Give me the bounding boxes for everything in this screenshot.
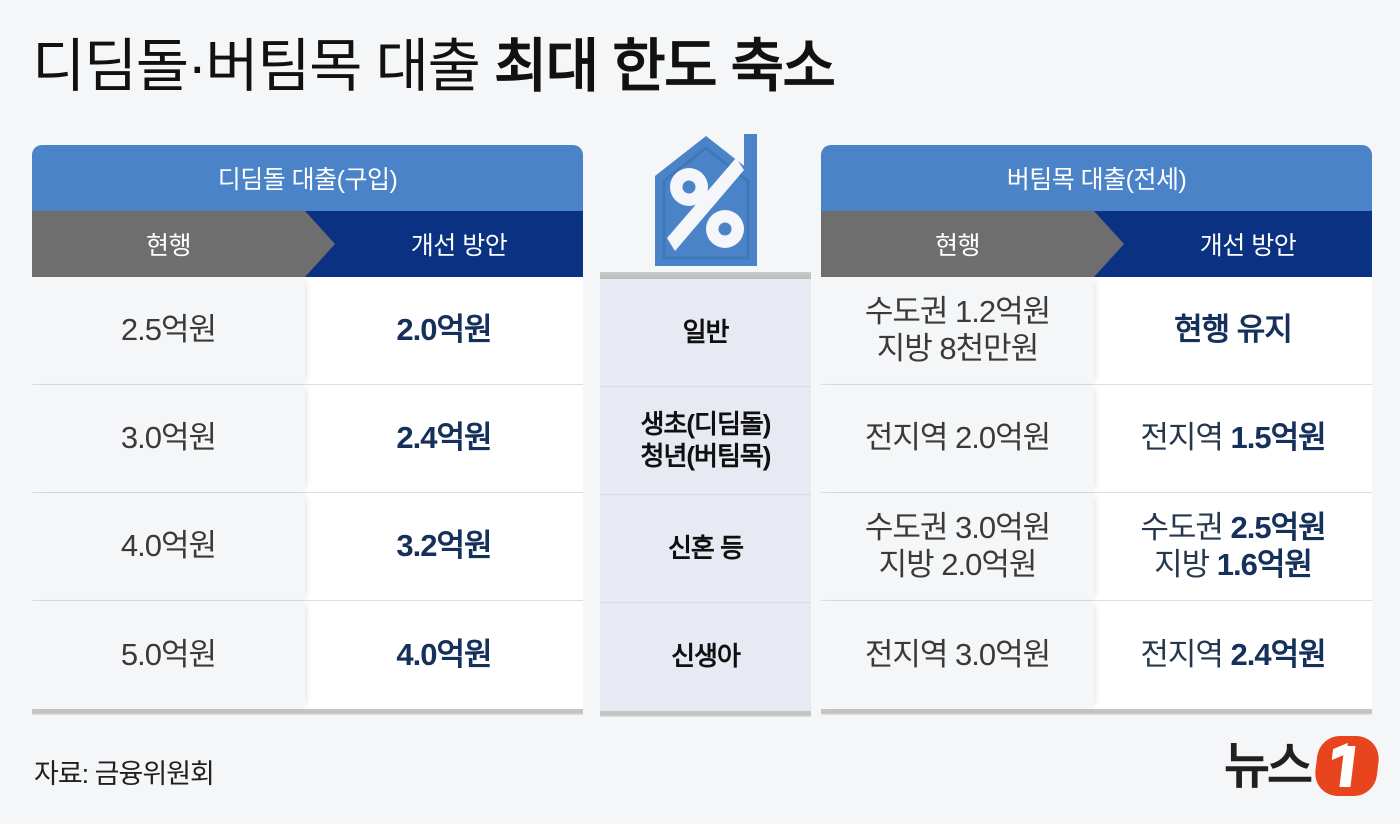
right-cell-plan: 현행 유지 [1094, 277, 1372, 384]
value-line: 수도권 1.2억원 [865, 294, 1050, 331]
value-line: 전지역 1.5억원 [1140, 420, 1325, 457]
left-cell-plan: 2.4억원 [305, 385, 583, 492]
didimdol-loan-table: 디딤돌 대출(구입) 현행 개선 방안 2.5억원 2.0억원 3.0억원 2.… [32, 145, 583, 715]
left-cell-current: 2.5억원 [32, 277, 305, 384]
left-col-header-plan: 개선 방안 [305, 211, 583, 277]
value-line: 5.0억원 [121, 637, 216, 674]
right-cell-plan: 전지역 1.5억원 [1094, 385, 1372, 492]
value-line: 현행 유지 [1174, 312, 1292, 349]
left-table-base-bar [32, 709, 583, 715]
page-title: 디딤돌·버팀목 대출 최대 한도 축소 [32, 24, 1372, 110]
value-line: 수도권 2.5억원 [1140, 510, 1325, 547]
right-cell-current: 수도권 3.0억원 지방 2.0억원 [821, 493, 1094, 600]
value-line: 2.0억원 [396, 312, 491, 349]
value-line: 2.5억원 [121, 312, 216, 349]
news1-logo: 뉴스 [1224, 735, 1378, 797]
source-note: 자료: 금융위원회 [34, 752, 214, 791]
left-col-header-current: 현행 [32, 211, 305, 277]
table-row: 5.0억원 4.0억원 [32, 601, 583, 709]
left-cell-current: 5.0억원 [32, 601, 305, 709]
left-cell-plan: 3.2억원 [305, 493, 583, 600]
value-line: 지방 1.6억원 [1154, 547, 1312, 584]
right-cell-plan: 전지역 2.4억원 [1094, 601, 1372, 709]
table-row: 전지역 3.0억원 전지역 2.4억원 [821, 601, 1372, 709]
table-row: 전지역 2.0억원 전지역 1.5억원 [821, 385, 1372, 493]
category-label: 신생아 [600, 603, 811, 711]
right-table-base-bar [821, 709, 1372, 715]
loan-category-column: 일반 생초(디딤돌) 청년(버팀목) 신혼 등 신생아 [600, 272, 811, 717]
value-line: 지방 2.0억원 [879, 547, 1037, 584]
right-table-subheader: 현행 개선 방안 [821, 211, 1372, 277]
value-line: 4.0억원 [396, 637, 491, 674]
left-cell-plan: 2.0억원 [305, 277, 583, 384]
center-column-base-bar [600, 711, 811, 717]
value-line: 전지역 3.0억원 [865, 637, 1050, 674]
beotimmok-loan-table: 버팀목 대출(전세) 현행 개선 방안 수도권 1.2억원 지방 8천만원 현행… [821, 145, 1372, 715]
center-column-body: 일반 생초(디딤돌) 청년(버팀목) 신혼 등 신생아 [600, 279, 811, 711]
value-line: 4.0억원 [121, 528, 216, 565]
left-cell-plan: 4.0억원 [305, 601, 583, 709]
logo-numeral-one-icon [1312, 736, 1381, 796]
right-table-title: 버팀목 대출(전세) [821, 145, 1372, 211]
left-cell-current: 4.0억원 [32, 493, 305, 600]
left-cell-current: 3.0억원 [32, 385, 305, 492]
house-percent-icon [645, 134, 767, 276]
left-table-title: 디딤돌 대출(구입) [32, 145, 583, 211]
value-line: 전지역 2.4억원 [1140, 637, 1325, 674]
table-row: 3.0억원 2.4억원 [32, 385, 583, 493]
value-line: 수도권 3.0억원 [865, 510, 1050, 547]
category-label: 일반 [600, 279, 811, 387]
value-line: 3.0억원 [121, 420, 216, 457]
title-heading: 디딤돌·버팀목 대출 최대 한도 축소 [32, 38, 834, 96]
center-column-cap-bar [600, 272, 811, 279]
right-cell-current: 전지역 2.0억원 [821, 385, 1094, 492]
table-row: 4.0억원 3.2억원 [32, 493, 583, 601]
right-col-header-current: 현행 [821, 211, 1094, 277]
logo-wordmark: 뉴스 [1224, 741, 1310, 791]
category-label: 신혼 등 [600, 495, 811, 603]
value-line: 2.4억원 [396, 420, 491, 457]
left-table-body: 2.5억원 2.0억원 3.0억원 2.4억원 4.0억원 [32, 277, 583, 709]
right-table-body: 수도권 1.2억원 지방 8천만원 현행 유지 전지역 2.0억원 전지역 1.… [821, 277, 1372, 709]
right-cell-current: 수도권 1.2억원 지방 8천만원 [821, 277, 1094, 384]
left-table-subheader: 현행 개선 방안 [32, 211, 583, 277]
title-bold-part: 최대 한도 축소 [494, 34, 834, 99]
table-row: 수도권 1.2억원 지방 8천만원 현행 유지 [821, 277, 1372, 385]
title-light-part: 디딤돌·버팀목 대출 [32, 34, 494, 99]
right-cell-plan: 수도권 2.5억원 지방 1.6억원 [1094, 493, 1372, 600]
value-line: 전지역 2.0억원 [865, 420, 1050, 457]
right-col-header-plan: 개선 방안 [1094, 211, 1372, 277]
value-line: 지방 8천만원 [877, 331, 1038, 368]
infographic-board: 디딤돌·버팀목 대출 최대 한도 축소 디딤돌 대출(구입) 현행 개선 방안 … [0, 0, 1400, 824]
table-row: 수도권 3.0억원 지방 2.0억원 수도권 2.5억원 지방 1.6억원 [821, 493, 1372, 601]
category-label: 생초(디딤돌) 청년(버팀목) [600, 387, 811, 495]
right-cell-current: 전지역 3.0억원 [821, 601, 1094, 709]
table-row: 2.5억원 2.0억원 [32, 277, 583, 385]
value-line: 3.2억원 [396, 528, 491, 565]
